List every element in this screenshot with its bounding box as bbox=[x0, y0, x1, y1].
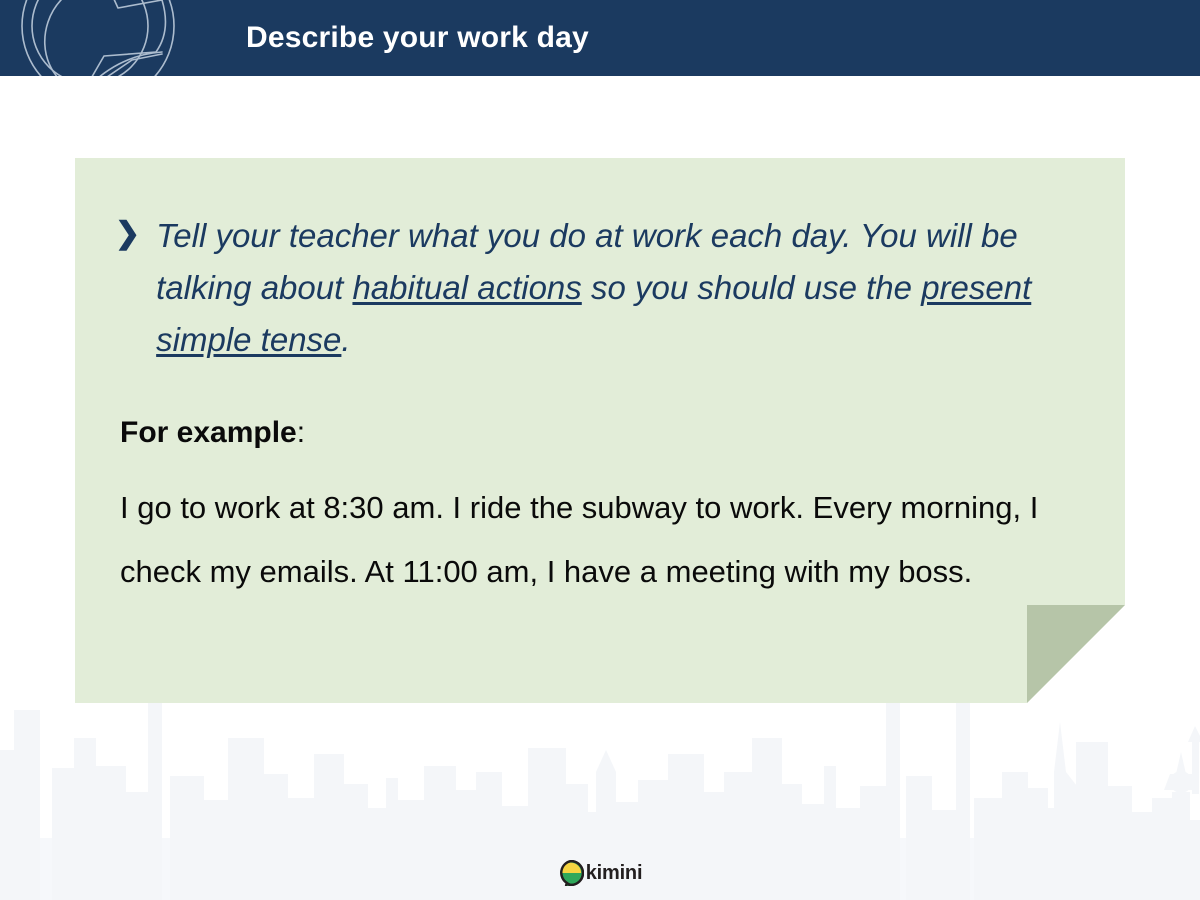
footer-brand-logo: kimini bbox=[0, 860, 1200, 886]
instruction-segment-3: . bbox=[341, 321, 350, 358]
g-monogram-watermark-icon bbox=[0, 0, 216, 76]
kimini-brand-text: kimini bbox=[586, 860, 643, 886]
content-card: ❯ Tell your teacher what you do at work … bbox=[75, 158, 1125, 703]
example-label-colon: : bbox=[297, 416, 305, 449]
instruction-text: Tell your teacher what you do at work ea… bbox=[156, 210, 1085, 366]
instruction-bullet-row: ❯ Tell your teacher what you do at work … bbox=[115, 210, 1085, 366]
kimini-speech-bubble-icon bbox=[558, 860, 584, 886]
instruction-segment-2: so you should use the bbox=[582, 269, 921, 306]
page-title: Describe your work day bbox=[246, 0, 589, 76]
card-fold-shade bbox=[1027, 605, 1125, 703]
card-content: ❯ Tell your teacher what you do at work … bbox=[75, 158, 1125, 604]
example-heading: For example: bbox=[120, 412, 1085, 454]
chevron-right-icon: ❯ bbox=[115, 208, 140, 260]
header-bar: Describe your work day bbox=[0, 0, 1200, 76]
slide-root: Describe your work day ❯ Tell your teach… bbox=[0, 0, 1200, 900]
instruction-underline-habitual-actions: habitual actions bbox=[352, 269, 581, 306]
example-label: For example bbox=[120, 416, 297, 449]
example-body-text: I go to work at 8:30 am. I ride the subw… bbox=[120, 476, 1085, 604]
